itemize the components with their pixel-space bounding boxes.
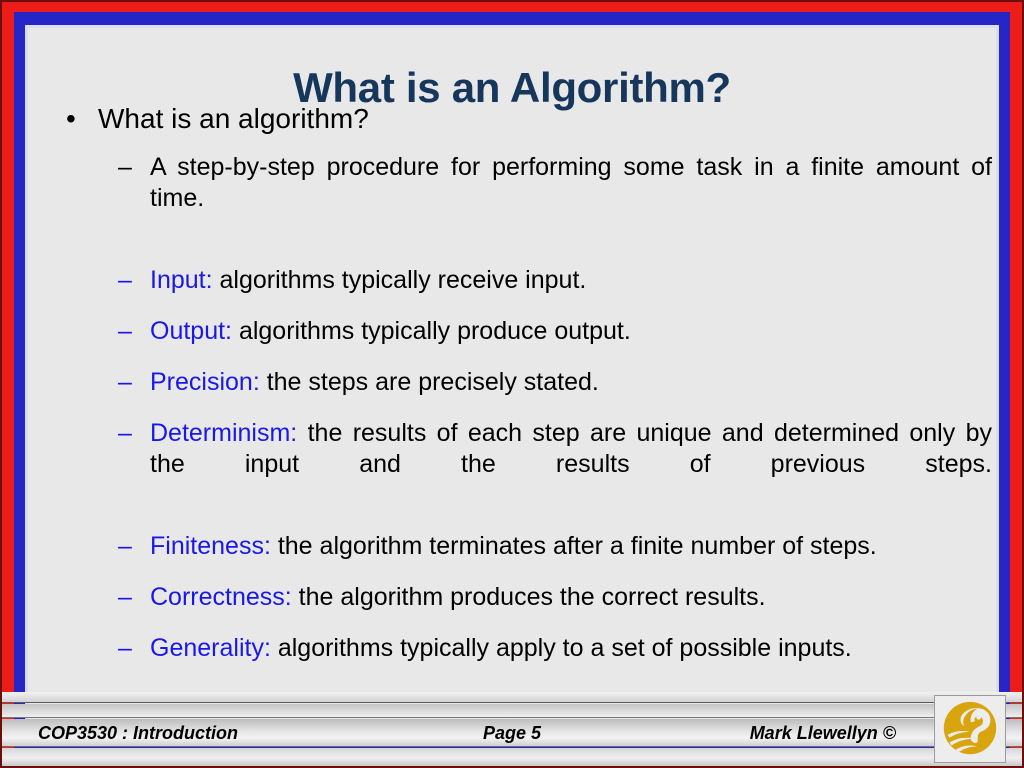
- slide: What is an Algorithm? •What is an algori…: [0, 0, 1024, 768]
- bullet-keyword: Precision:: [150, 368, 260, 396]
- bullet-level-2: –Determinism: the results of each step a…: [34, 418, 992, 511]
- bullet-text: Correctness: the algorithm produces the …: [150, 582, 992, 613]
- bullet-level-2: –Input: algorithms typically receive inp…: [34, 265, 992, 296]
- bullet-text: Input: algorithms typically receive inpu…: [150, 265, 992, 296]
- bullet-level-2: –Output: algorithms typically produce ou…: [34, 316, 992, 347]
- bullet-text: Precision: the steps are precisely state…: [150, 367, 992, 398]
- bullet-text: A step-by-step procedure for performing …: [150, 152, 992, 245]
- bullet-marker: –: [118, 265, 132, 296]
- bullet-keyword: Correctness:: [150, 583, 292, 611]
- bullet-keyword: Generality:: [150, 634, 271, 662]
- bullet-keyword: Finiteness:: [150, 532, 271, 560]
- footer-author-copyright: Mark Llewellyn ©: [750, 719, 896, 747]
- footer-stripe-bottom: [2, 748, 1022, 766]
- bullet-keyword: Input:: [150, 266, 213, 294]
- bullet-marker: –: [118, 633, 132, 664]
- bullet-keyword: Determinism:: [150, 419, 297, 447]
- footer-stripe-middle: [2, 704, 1022, 718]
- bullet-text: Generality: algorithms typically apply t…: [150, 633, 992, 664]
- bullet-level-2: –Finiteness: the algorithm terminates af…: [34, 531, 992, 562]
- bullet-marker: –: [118, 582, 132, 613]
- bullet-marker: –: [118, 316, 132, 347]
- bullet-level-1: •What is an algorithm?: [34, 102, 992, 136]
- bullet-marker: –: [118, 367, 132, 398]
- bullet-text: What is an algorithm?: [98, 103, 369, 134]
- bullet-keyword: Output:: [150, 317, 232, 345]
- bullet-marker: –: [118, 531, 132, 562]
- slide-body: •What is an algorithm?–A step-by-step pr…: [34, 102, 992, 684]
- bullet-marker: –: [118, 152, 132, 183]
- bullet-level-2: –Correctness: the algorithm produces the…: [34, 582, 992, 613]
- footer-stripe-top: [2, 692, 1022, 703]
- bullet-level-2: –A step-by-step procedure for performing…: [34, 152, 992, 245]
- ucf-pegasus-logo: [934, 695, 1006, 763]
- bullet-level-2: –Precision: the steps are precisely stat…: [34, 367, 992, 398]
- bullet-marker: •: [66, 102, 76, 136]
- bullet-text: Determinism: the results of each step ar…: [150, 418, 992, 511]
- slide-canvas: What is an Algorithm? •What is an algori…: [28, 28, 996, 740]
- bullet-level-2: –Generality: algorithms typically apply …: [34, 633, 992, 664]
- bullet-text: Output: algorithms typically produce out…: [150, 316, 992, 347]
- slide-footer: COP3530 : Introduction Page 5 Mark Llewe…: [2, 692, 1022, 766]
- bullet-marker: –: [118, 418, 132, 449]
- bullet-text: Finiteness: the algorithm terminates aft…: [150, 531, 992, 562]
